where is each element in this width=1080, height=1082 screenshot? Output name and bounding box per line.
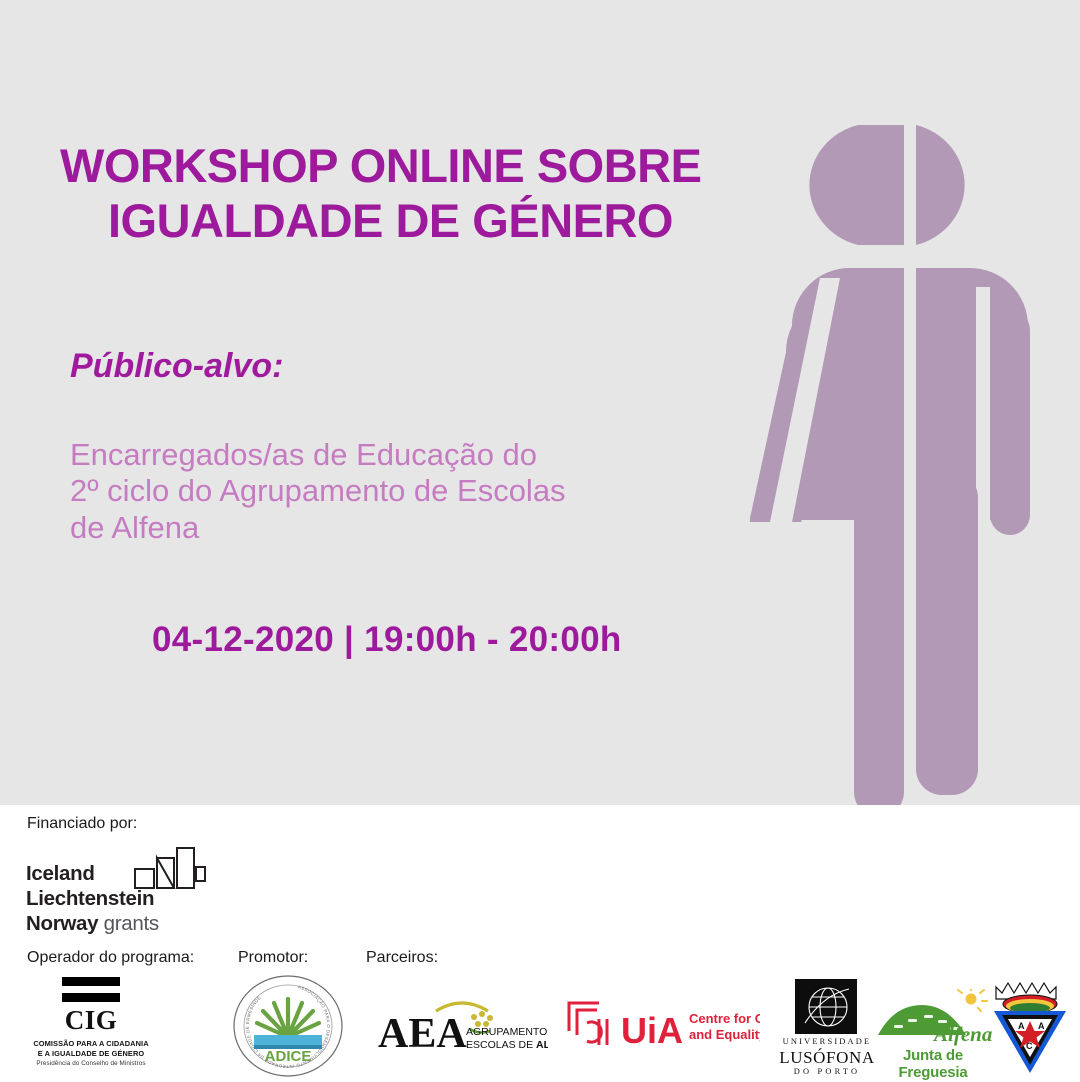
promoter-label: Promotor: — [238, 949, 308, 967]
uia-line-2: and Equality — [689, 1027, 760, 1042]
eea-grants-wordmark: Iceland Liechtenstein Norway grants — [26, 861, 159, 936]
event-datetime: 04-12-2020 | 19:00h - 20:00h — [152, 620, 622, 660]
alfena-subtitle: Junta de Freguesia — [872, 1047, 994, 1081]
crest-letter-a1: A — [1018, 1021, 1025, 1031]
uia-line-1: Centre for Gender — [689, 1011, 760, 1026]
lusofona-globe-icon — [795, 979, 857, 1034]
title-line-2: IGUALDADE DE GÉNERO — [108, 193, 800, 248]
financed-by-label: Financiado por: — [27, 815, 137, 833]
poster-stage: WORKSHOP ONLINE SOBRE IGUALDADE DE GÉNER… — [0, 0, 1080, 805]
cig-logo: CIG COMISSÃO PARA A CIDADANIA E A IGUALD… — [26, 977, 156, 1075]
eea-line-1: Iceland — [26, 861, 159, 886]
target-line-2: 2º ciclo do Agrupamento de Escolas — [70, 473, 730, 509]
aea-line-2: ESCOLAS DE ALFENA — [466, 1039, 548, 1051]
cig-subtitle: COMISSÃO PARA A CIDADANIA E A IGUALDADE … — [26, 1039, 156, 1058]
club-crest-logo: A A C — [988, 975, 1072, 1075]
adice-logo: ASSOCIAÇÃO PARA O DESENVOLVIMENTO INTEGR… — [232, 975, 344, 1077]
cig-ministry-line: Presidência do Conselho de Ministros — [26, 1060, 156, 1067]
page-title: WORKSHOP ONLINE SOBRE IGUALDADE DE GÉNER… — [60, 138, 800, 249]
aea-line-1: AGRUPAMENTO DE — [466, 1026, 548, 1038]
lusofona-line-2: LUSÓFONA — [778, 1048, 876, 1068]
operator-label: Operador do programa: — [27, 949, 194, 967]
partners-label: Parceiros: — [366, 949, 438, 967]
lusofona-logo: UNIVERSIDADE LUSÓFONA DO PORTO — [778, 979, 876, 1077]
partner-logo-row: CIG COMISSÃO PARA A CIDADANIA E A IGUALD… — [0, 977, 1080, 1080]
lusofona-line-1: UNIVERSIDADE — [778, 1037, 876, 1046]
eea-grants-logo: Iceland Liechtenstein Norway grants — [26, 853, 206, 938]
aea-logo: AEA AGRUPAMENTO DE ESCOLAS DE ALFENA — [378, 995, 548, 1057]
footer-logos-bar: Financiado por: Iceland Liechtenstein No… — [0, 805, 1080, 1080]
target-line-1: Encarregados/as de Educação do — [70, 437, 730, 473]
crest-letter-c: C — [1026, 1041, 1033, 1051]
eea-line-3: Norway grants — [26, 911, 159, 936]
cig-acronym: CIG — [26, 1005, 156, 1036]
footer-section-labels: Operador do programa: Promotor: Parceiro… — [0, 949, 1080, 971]
alfena-wordmark: Alfena — [932, 1022, 992, 1046]
adice-acronym: ADICE — [265, 1048, 312, 1065]
title-line-1: WORKSHOP ONLINE SOBRE — [60, 138, 800, 193]
target-audience-label: Público-alvo: — [70, 347, 283, 386]
uia-logo: UiA Centre for Gender and Equality — [565, 997, 760, 1055]
poster-root: WORKSHOP ONLINE SOBRE IGUALDADE DE GÉNER… — [0, 0, 1080, 1080]
lusofona-line-3: DO PORTO — [778, 1067, 876, 1076]
aea-acronym: AEA — [378, 1011, 467, 1057]
alfena-junta-logo: Alfena Junta de Freguesia — [872, 989, 994, 1069]
target-audience-text: Encarregados/as de Educação do 2º ciclo … — [70, 437, 730, 546]
target-line-3: de Alfena — [70, 510, 730, 546]
crest-letter-a2: A — [1038, 1021, 1045, 1031]
eea-line-2: Liechtenstein — [26, 886, 159, 911]
uia-acronym: UiA — [621, 1010, 683, 1051]
